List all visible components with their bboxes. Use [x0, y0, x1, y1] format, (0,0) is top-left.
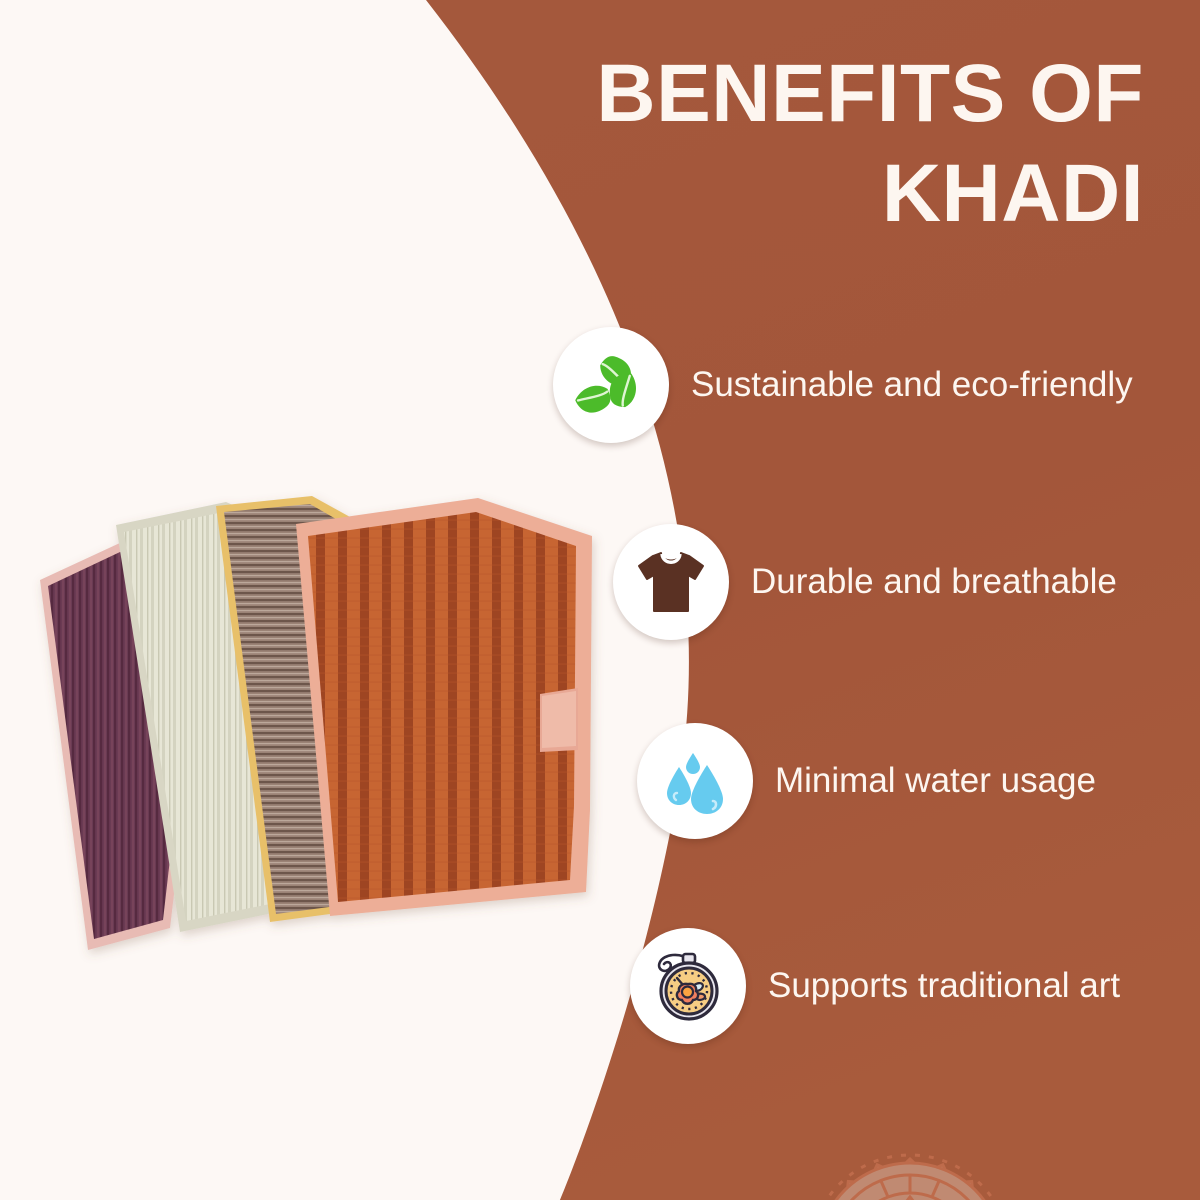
poster-canvas: BENEFITS OF KHADI [0, 0, 1200, 1200]
title-line-2: KHADI [544, 144, 1144, 244]
benefit-item-water[interactable]: Minimal water usage [637, 723, 1096, 839]
benefit-label: Supports traditional art [768, 966, 1120, 1006]
khadi-fabric-folder-stack [30, 480, 610, 980]
benefit-label: Durable and breathable [751, 562, 1117, 602]
orange-striped-folder [296, 498, 592, 916]
water-drops-icon [637, 723, 753, 839]
tshirt-icon [613, 524, 729, 640]
benefit-item-traditional-art[interactable]: Supports traditional art [630, 928, 1120, 1044]
benefit-item-durable[interactable]: Durable and breathable [613, 524, 1117, 640]
title-line-1: BENEFITS OF [544, 44, 1144, 144]
embroidery-hoop-icon [630, 928, 746, 1044]
benefit-item-sustainable[interactable]: Sustainable and eco-friendly [553, 327, 1133, 443]
benefit-label: Minimal water usage [775, 761, 1096, 801]
poster-title: BENEFITS OF KHADI [544, 44, 1144, 244]
recycle-leaves-icon [553, 327, 669, 443]
benefit-label: Sustainable and eco-friendly [691, 365, 1133, 405]
